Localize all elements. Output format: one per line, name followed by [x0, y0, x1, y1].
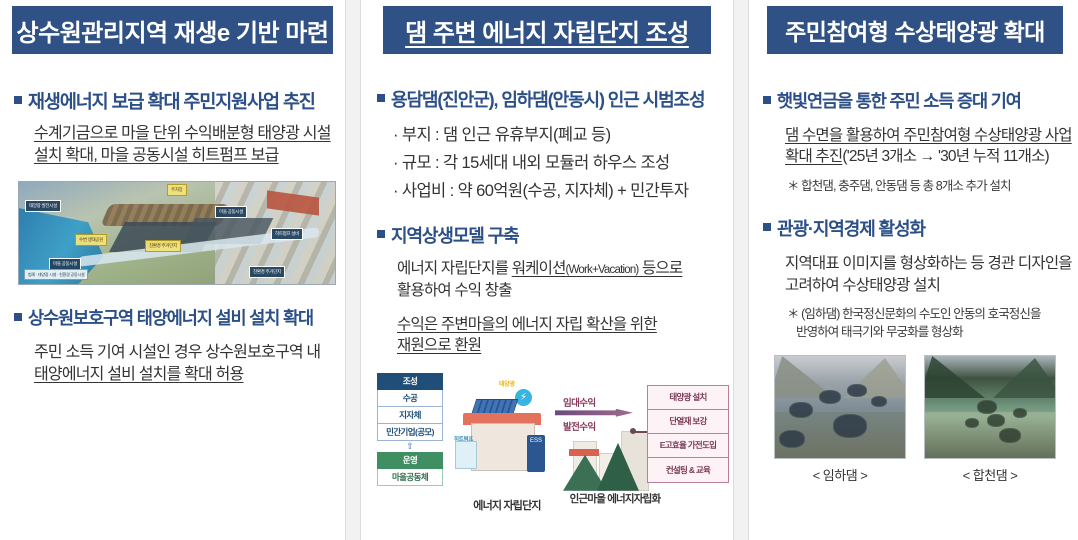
column-1-banner-title: 상수원관리지역 재생e 기반 마련	[17, 13, 329, 48]
column-divider-1	[345, 0, 361, 540]
c3-section-2-line-1: 지역대표 이미지를 형상화하는 등 경관 디자인을	[785, 255, 1072, 272]
c2-section-2-heading-text: 지역상생모델 구축	[391, 222, 519, 248]
house-caption: 에너지 자립단지	[459, 497, 555, 513]
c3-section-1-line-1: 댐 수면을 활용하여 주민참여형 수상태양광 사업	[785, 127, 1072, 144]
c1-rendering-photo: 주차장 태양광 발전시설 마을 공동시설 수변 생태공원 친환경 주거단지 히트…	[18, 181, 336, 285]
c1-section-2-body-line-1: 주민 소득 기여 시설인 경우 상수원보호구역 내	[34, 344, 320, 361]
c3-section-1-note: ＊ 합천댐, 충주댐, 안동댐 등 총 8개소 추가 설치	[787, 178, 1077, 196]
solar-raft	[965, 418, 979, 428]
column-floating-solar: 주민참여형 수상태양광 확대 햇빛연금을 통한 주민 소득 증대 기여 댐 수면…	[749, 0, 1078, 540]
c1-section-1-heading: 재생에너지 보급 확대 주민지원사업 추진	[14, 88, 337, 114]
c3-section-1-line-2-rest: ('25년 3개소 → '30년 누적 11개소)	[842, 148, 1049, 165]
lightning-icon: ⚡	[515, 389, 532, 406]
flow-build-item: 민간기업(공모)	[377, 424, 443, 441]
c2-section-2-para-2: 수익은 주변마을의 에너지 자립 확산을 위한 재원으로 환원	[397, 314, 717, 357]
measure-item: 단열재 보강	[648, 410, 728, 434]
c1-section-2-heading-text: 상수원보호구역 태양에너지 설비 설치 확대	[28, 305, 313, 330]
square-bullet-icon	[14, 96, 22, 104]
c1-section-1-body-line-2: 설치 확대, 마을 공동시설 히트펌프 보급	[34, 147, 279, 164]
photo-tag: 마을 공동시설	[215, 206, 247, 218]
solar-raft	[779, 430, 805, 448]
column-2-banner-title: 댐 주변 에너지 자립단지 조성	[405, 13, 689, 48]
c2-section-2-heading: 지역상생모델 구축	[377, 222, 723, 248]
measure-item: 컨설팅 & 교육	[648, 458, 728, 482]
c2-item: · 부지 : 댐 인근 유휴부지(폐교 등)	[393, 124, 723, 147]
square-bullet-icon	[377, 94, 385, 102]
solar-raft	[999, 428, 1021, 443]
up-arrow-icon: ⇧	[406, 441, 414, 452]
flow-build-item: 지자체	[377, 407, 443, 424]
revenue-arrow-icon	[555, 409, 633, 417]
solar-raft	[1013, 408, 1027, 418]
c2-para2-line-2: 재원으로 환원	[397, 337, 481, 354]
photo-tag: 친환경 주거단지	[249, 266, 285, 278]
c3-section-1-heading: 햇빛연금을 통한 주민 소득 증대 기여	[763, 88, 1073, 113]
column-1-banner: 상수원관리지역 재생e 기반 마련	[12, 6, 333, 54]
flow-operate-header: 운영	[377, 452, 443, 469]
solar-raft	[987, 414, 1005, 427]
c3-section-2-note: ＊ (임하댐) 한국정신문화의 수도인 안동의 호국정신을 반영하여 태극기와 …	[787, 306, 1077, 341]
column-3-banner: 주민참여형 수상태양광 확대	[767, 6, 1063, 54]
house-body-icon	[471, 423, 535, 471]
rental-revenue-label: 임대수익	[563, 395, 596, 409]
flow-build-header: 조성	[377, 373, 443, 390]
c1-section-1-heading-text: 재생에너지 보급 확대 주민지원사업 추진	[28, 88, 315, 114]
photo-tag: 수변 생태공원	[75, 234, 107, 246]
c2-section-1-heading-text: 용담댐(진안군), 임하댐(안동시) 인근 시범조성	[391, 86, 704, 112]
square-bullet-icon	[763, 223, 771, 231]
c2-energy-complex-diagram: 조성 수공 지자체 민간기업(공모) ⇧ 운영 마을공동체 태양광 ⚡ 히트펌프…	[375, 371, 731, 521]
c3-photo-block: < 임하댐 >	[774, 355, 906, 484]
c2-para2-line-1: 수익은 주변마을의 에너지 자립 확산을 위한	[397, 316, 657, 333]
c3-section-2-heading: 관광·지역경제 활성화	[763, 215, 1073, 241]
c2-para1-english: (Work+Vacation)	[566, 264, 639, 276]
flow-operate-item: 마을공동체	[377, 469, 443, 486]
village-roof-icon	[569, 449, 599, 456]
solar-raft	[847, 384, 867, 397]
solar-label: 태양광	[499, 379, 515, 388]
policy-slide: 상수원관리지역 재생e 기반 마련 재생에너지 보급 확대 주민지원사업 추진 …	[0, 0, 1078, 540]
c1-section-1-body-line-1: 수계기금으로 마을 단위 수익배분형 태양광 시설	[34, 125, 331, 142]
solar-raft	[871, 396, 887, 407]
village-caption: 인근마을 에너지자립화	[559, 491, 671, 506]
c2-section-1-heading: 용담댐(진안군), 임하댐(안동시) 인근 시범조성	[377, 86, 723, 112]
diagram-flow-column: 조성 수공 지자체 민간기업(공모) ⇧ 운영 마을공동체	[377, 373, 443, 486]
c2-para1-pre: 에너지 자립단지를	[397, 260, 512, 277]
photo-tag: 히트펌프 설비	[271, 228, 303, 240]
column-dam-energy-complex: 댐 주변 에너지 자립단지 조성 용담댐(진안군), 임하댐(안동시) 인근 시…	[361, 0, 733, 540]
flow-arrow-wrap: ⇧	[377, 441, 443, 452]
diagram-measures-list: 태양광 설치 단열재 보강 E고효율 가전도입 컨설팅 & 교육	[647, 385, 729, 483]
column-2-banner: 댐 주변 에너지 자립단지 조성	[383, 6, 711, 54]
c1-section-2-heading: 상수원보호구역 태양에너지 설비 설치 확대	[14, 305, 337, 330]
ess-icon: ESS	[527, 435, 545, 472]
solar-raft	[789, 402, 813, 418]
measure-item: 태양광 설치	[648, 386, 728, 410]
imha-dam-photo	[774, 355, 906, 459]
square-bullet-icon	[763, 96, 771, 104]
c1-section-2-body: 주민 소득 기여 시설인 경우 상수원보호구역 내 태양에너지 설비 설치를 확…	[34, 342, 334, 386]
c2-item: · 사업비 : 약 60억원(수공, 지자체) + 민간투자	[393, 180, 723, 203]
hapcheon-dam-caption: < 합천댐 >	[924, 465, 1056, 484]
c3-section-2-body: 지역대표 이미지를 형상화하는 등 경관 디자인을 고려하여 수상태양광 설치	[785, 253, 1077, 296]
c2-para1-underlined-2: 등으로	[638, 260, 682, 277]
c2-para1-line-2: 활용하여 수익 창출	[397, 282, 512, 299]
c2-item: · 규모 : 각 15세대 내외 모듈러 하우스 조성	[393, 152, 723, 175]
c3-note-line-2: 반영하여 태극기와 무궁화를 형상화	[796, 324, 1077, 342]
c3-section-1-line-2-underlined: 확대 추진	[785, 148, 842, 165]
c3-section-2-heading-text: 관광·지역경제 활성화	[777, 215, 925, 241]
solar-raft	[819, 390, 841, 404]
column-divider-2	[733, 0, 749, 540]
measure-item: E고효율 가전도입	[648, 434, 728, 458]
photo-tag: 친환경 주거단지	[145, 240, 181, 252]
c3-note-line-1: ＊ (임하댐) 한국정신문화의 수도인 안동의 호국정신을	[787, 307, 1041, 321]
solar-raft	[833, 414, 867, 438]
flow-build-item: 수공	[377, 390, 443, 407]
c3-section-1-body: 댐 수면을 활용하여 주민참여형 수상태양광 사업 확대 추진('25년 3개소…	[785, 125, 1077, 168]
heatpump-icon	[455, 441, 477, 469]
c2-para1-underlined: 워케이션	[512, 260, 566, 277]
imha-dam-caption: < 임하댐 >	[774, 465, 906, 484]
c1-section-2-body-line-2: 태양에너지 설비 설치를 확대 허용	[34, 366, 243, 383]
photo-tag: 주차장	[167, 184, 187, 196]
hapcheon-dam-photo	[924, 355, 1056, 459]
c2-section-2-para-1: 에너지 자립단지를 워케이션(Work+Vacation) 등으로 활용하여 수…	[397, 258, 717, 301]
square-bullet-icon	[377, 230, 385, 238]
photo-tag: 태양광 발전시설	[25, 200, 61, 212]
c3-section-1-heading-text: 햇빛연금을 통한 주민 소득 증대 기여	[777, 88, 1021, 113]
photo-mountain-left	[924, 356, 985, 398]
c1-section-1-body: 수계기금으로 마을 단위 수익배분형 태양광 시설 설치 확대, 마을 공동시설…	[34, 123, 334, 167]
c3-photo-block: < 합천댐 >	[924, 355, 1056, 484]
column-water-source-region: 상수원관리지역 재생e 기반 마련 재생에너지 보급 확대 주민지원사업 추진 …	[0, 0, 345, 540]
c3-section-2-line-2: 고려하여 수상태양광 설치	[785, 277, 940, 294]
square-bullet-icon	[14, 313, 22, 321]
photo-legend: 범례 · 태양광 시설 · 친환경 공동시설	[24, 269, 88, 280]
column-3-banner-title: 주민참여형 수상태양광 확대	[785, 13, 1045, 47]
photo-mountain-right	[993, 358, 1056, 398]
c2-section-1-items: · 부지 : 댐 인근 유휴부지(폐교 등) · 규모 : 각 15세대 내외 …	[393, 124, 723, 202]
diagram-house-group: 태양광 ⚡ 히트펌프 ESS 에너지 자립단지	[455, 379, 547, 499]
c3-photo-row: < 임하댐 > < 합천댐 >	[757, 355, 1073, 484]
solar-raft	[977, 400, 997, 414]
